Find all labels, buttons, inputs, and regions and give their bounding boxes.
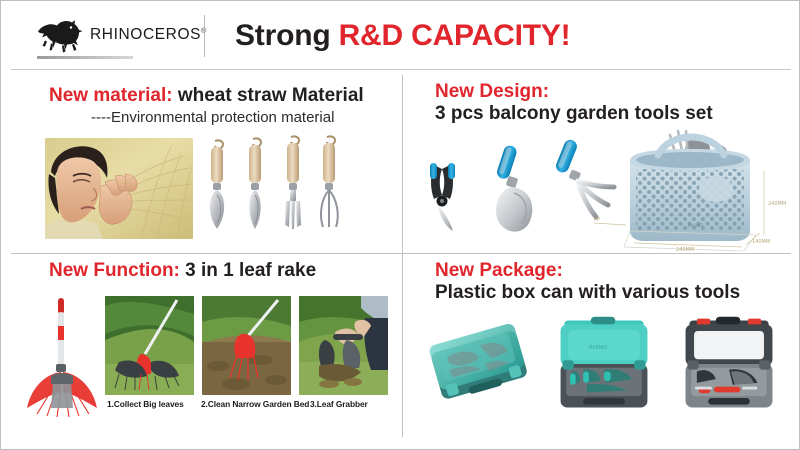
svg-text:RHINO: RHINO <box>589 344 608 350</box>
open-gray-tool-case <box>676 313 782 420</box>
rake-collecting-leaves-photo <box>105 296 194 395</box>
open-teal-tool-case: RHINO <box>551 313 657 420</box>
new-function-value: 3 in 1 leaf rake <box>180 260 316 281</box>
new-function-label: New Function: <box>49 260 180 281</box>
new-material-heading: New material: wheat straw Material <box>49 85 364 107</box>
use-case-3-caption: 3.Leaf Grabber <box>310 399 388 409</box>
use-case-2-caption: 2.Clean Narrow Garden Bed <box>201 399 291 409</box>
panel-new-package: New Package: Plastic box can with variou… <box>402 254 800 437</box>
svg-text:240MM: 240MM <box>768 201 786 207</box>
svg-text:PP: PP <box>594 217 600 223</box>
new-package-label: New Package: <box>435 260 563 282</box>
woman-smelling-wheat-photo <box>45 138 193 239</box>
panel-new-material: New material: wheat straw Material ----E… <box>1 75 402 253</box>
page-title-red: R&D CAPACITY! <box>339 19 571 52</box>
slide-header: RHINOCEROS® Strong R&D CAPACITY! <box>1 1 800 69</box>
svg-text:RHINO: RHINO <box>688 223 703 229</box>
use-case-2: 2.Clean Narrow Garden Bed <box>202 296 291 418</box>
page-title-black: Strong <box>235 19 339 52</box>
slide-canvas: RHINOCEROS® Strong R&D CAPACITY! New mat… <box>0 0 800 450</box>
rake-cleaning-garden-bed-photo <box>202 296 291 395</box>
use-case-1: 1.Collect Big leaves <box>105 296 194 418</box>
panel-new-design: New Design: 3 pcs balcony garden tools s… <box>402 75 800 253</box>
panel-new-function: New Function: 3 in 1 leaf rake <box>1 254 402 437</box>
red-leaf-rake-product <box>23 296 101 418</box>
new-material-subheading: ----Environmental protection material <box>91 109 334 126</box>
new-design-label: New Design: <box>435 81 549 103</box>
brand-wordmark-text: RHINOCEROS <box>90 26 201 43</box>
leaf-grabber-in-use-photo <box>299 296 388 395</box>
balcony-tools-set-art: RHINO 240MM 240MM 140MM PP <box>412 127 797 251</box>
new-function-heading: New Function: 3 in 1 leaf rake <box>49 260 316 282</box>
leaf-rake-use-cases: 1.Collect Big leaves <box>105 296 390 418</box>
new-package-value: Plastic box can with various tools <box>435 282 740 304</box>
use-case-3: 3.Leaf Grabber <box>299 296 388 418</box>
new-design-value: 3 pcs balcony garden tools set <box>435 103 713 125</box>
logo-underline-rule <box>37 56 133 59</box>
brand-wordmark: RHINOCEROS® <box>90 26 207 44</box>
closed-teal-tool-case <box>425 316 533 417</box>
use-case-1-caption: 1.Collect Big leaves <box>107 399 194 409</box>
rhinoceros-logo-icon <box>34 16 86 54</box>
wheat-straw-handle-tools <box>201 133 351 243</box>
new-material-label: New material: <box>49 85 173 106</box>
svg-text:140MM: 140MM <box>752 239 770 245</box>
page-title: Strong R&D CAPACITY! <box>235 18 570 54</box>
brand-logo: RHINOCEROS® <box>34 16 194 54</box>
svg-text:240MM: 240MM <box>676 247 694 251</box>
tool-case-gallery: RHINO <box>416 306 791 426</box>
new-material-value: wheat straw Material <box>173 85 364 106</box>
header-rule <box>11 69 791 70</box>
header-separator <box>204 15 205 57</box>
